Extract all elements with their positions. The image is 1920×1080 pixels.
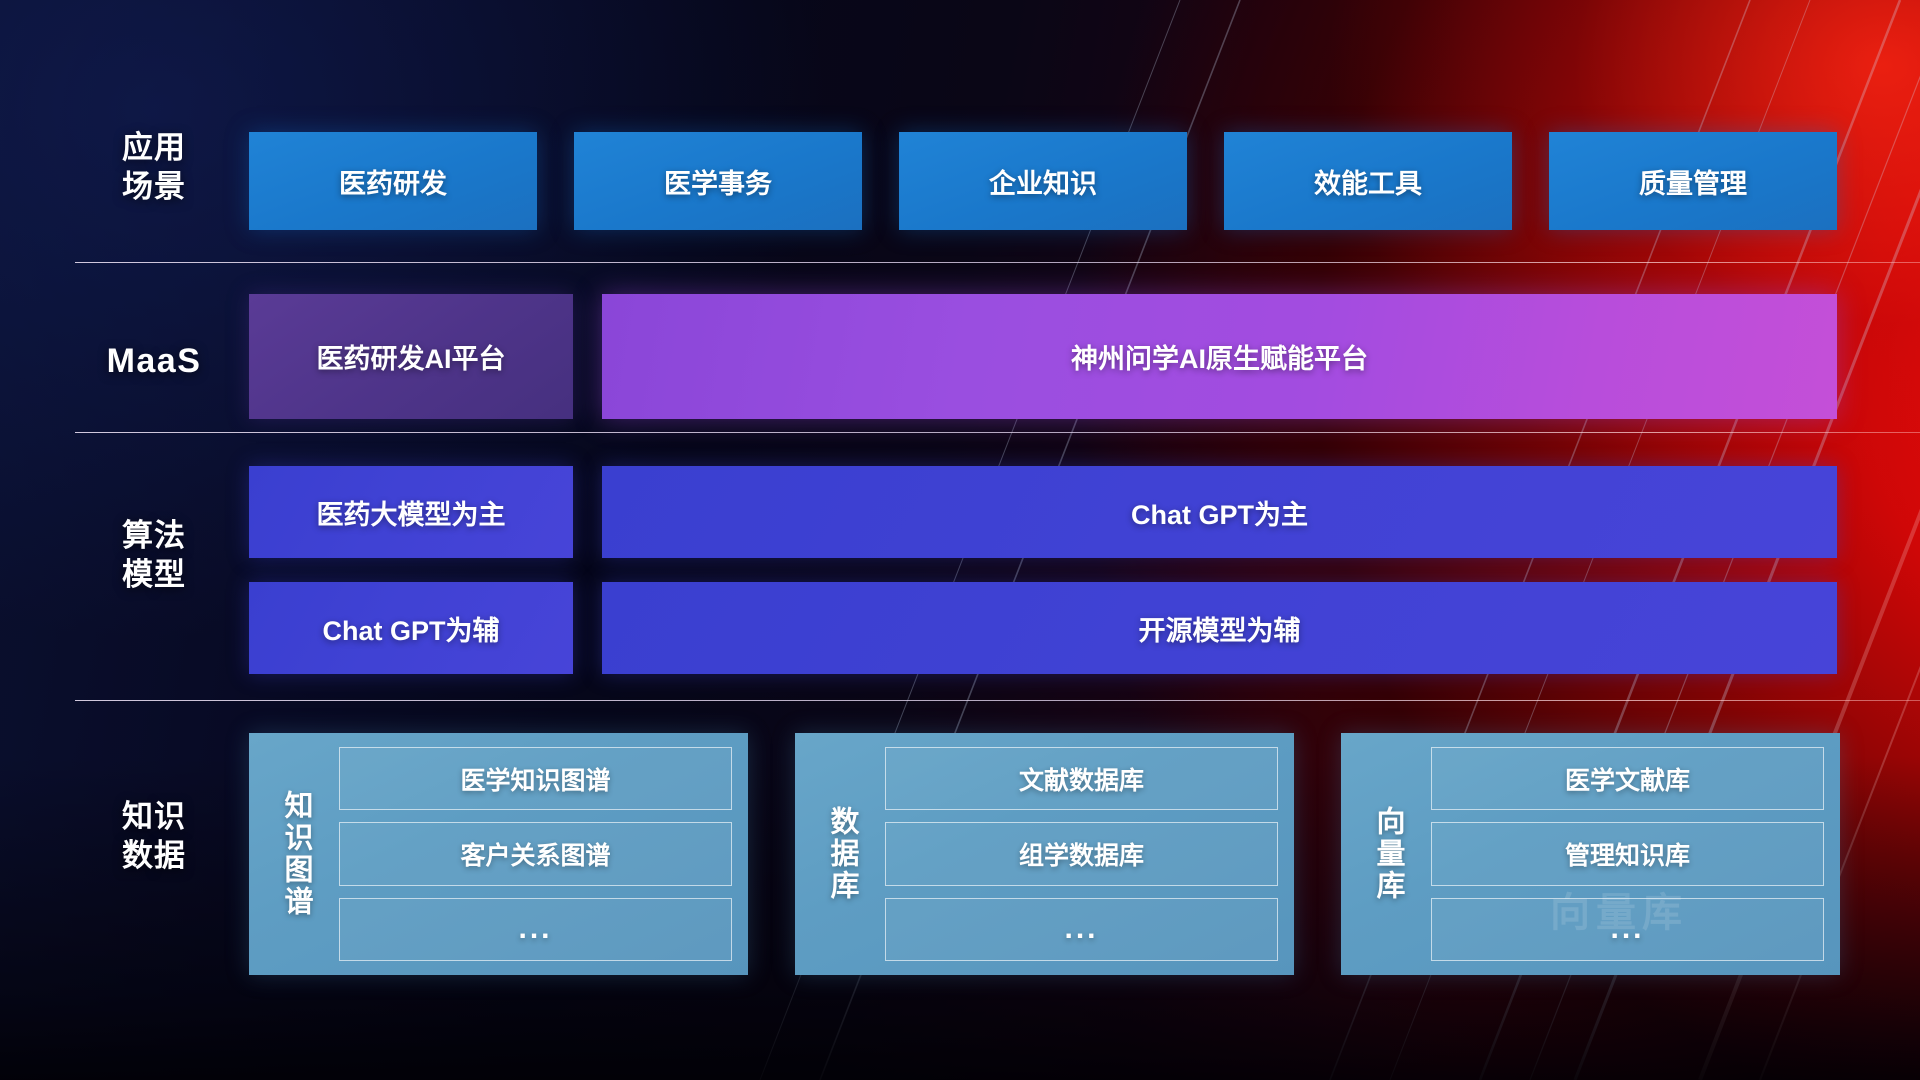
knowledge-item-vector-2[interactable]: ... [1431, 898, 1824, 961]
knowledge-item-database-1[interactable]: 组学数据库 [885, 822, 1278, 885]
model-card-chatgpt-primary-label: Chat GPT为主 [1131, 493, 1308, 532]
knowledge-panel-vector-title: 向量库 [1359, 747, 1415, 961]
model-card-chatgpt-primary[interactable]: Chat GPT为主 [602, 466, 1837, 558]
app-card-0-label: 医药研发 [339, 162, 447, 201]
row-label-application-line2: 场景 [84, 167, 224, 206]
app-card-3[interactable]: 效能工具 [1224, 132, 1512, 230]
knowledge-panel-database[interactable]: 数据库 文献数据库 组学数据库 ... [795, 733, 1294, 975]
maas-card-platform-shenzhou-label: 神州问学AI原生赋能平台 [1071, 337, 1368, 376]
knowledge-panel-graph-items: 医学知识图谱 客户关系图谱 ... [339, 747, 732, 961]
row-label-application: 应用 场景 [84, 128, 224, 206]
knowledge-item-vector-0[interactable]: 医学文献库 [1431, 747, 1824, 810]
knowledge-panel-graph[interactable]: 知识图谱 医学知识图谱 客户关系图谱 ... [249, 733, 748, 975]
app-card-4[interactable]: 质量管理 [1549, 132, 1837, 230]
app-card-0[interactable]: 医药研发 [249, 132, 537, 230]
divider-application-maas [75, 262, 1920, 263]
knowledge-panel-database-title: 数据库 [813, 747, 869, 961]
row-label-application-line1: 应用 [84, 128, 224, 167]
app-card-1-label: 医学事务 [664, 162, 772, 201]
knowledge-item-graph-0[interactable]: 医学知识图谱 [339, 747, 732, 810]
knowledge-item-database-2[interactable]: ... [885, 898, 1278, 961]
row-label-maas-line1: MaaS [84, 340, 224, 383]
app-card-1[interactable]: 医学事务 [574, 132, 862, 230]
architecture-diagram: 应用 场景 医药研发 医学事务 企业知识 效能工具 质量管理 MaaS 医药研发… [0, 0, 1920, 1080]
maas-card-platform-pharma[interactable]: 医药研发AI平台 [249, 294, 573, 419]
knowledge-panel-vector-items: 医学文献库 管理知识库 ... [1431, 747, 1824, 961]
row-label-algorithm-model-line2: 模型 [84, 555, 224, 594]
knowledge-item-vector-1[interactable]: 管理知识库 [1431, 822, 1824, 885]
knowledge-item-graph-2[interactable]: ... [339, 898, 732, 961]
app-card-2-label: 企业知识 [989, 162, 1097, 201]
knowledge-item-database-0[interactable]: 文献数据库 [885, 747, 1278, 810]
divider-model-knowledge [75, 700, 1920, 701]
row-label-knowledge-data-line2: 数据 [84, 836, 224, 875]
row-label-knowledge-data-line1: 知识 [84, 797, 224, 836]
model-card-opensource-secondary[interactable]: 开源模型为辅 [602, 582, 1837, 674]
row-label-algorithm-model: 算法 模型 [84, 516, 224, 594]
app-card-2[interactable]: 企业知识 [899, 132, 1187, 230]
model-card-pharma-primary[interactable]: 医药大模型为主 [249, 466, 573, 558]
maas-card-platform-shenzhou[interactable]: 神州问学AI原生赋能平台 [602, 294, 1837, 419]
app-card-4-label: 质量管理 [1639, 162, 1747, 201]
row-label-knowledge-data: 知识 数据 [84, 797, 224, 875]
knowledge-panel-graph-title: 知识图谱 [267, 747, 323, 961]
model-card-chatgpt-secondary[interactable]: Chat GPT为辅 [249, 582, 573, 674]
knowledge-panel-vector[interactable]: 向量库 医学文献库 管理知识库 ... [1341, 733, 1840, 975]
model-card-opensource-secondary-label: 开源模型为辅 [1139, 609, 1301, 648]
knowledge-panel-database-items: 文献数据库 组学数据库 ... [885, 747, 1278, 961]
model-card-chatgpt-secondary-label: Chat GPT为辅 [322, 609, 499, 648]
divider-maas-model [75, 432, 1920, 433]
knowledge-item-graph-1[interactable]: 客户关系图谱 [339, 822, 732, 885]
model-card-pharma-primary-label: 医药大模型为主 [317, 493, 506, 532]
maas-card-platform-pharma-label: 医药研发AI平台 [317, 337, 506, 376]
row-label-algorithm-model-line1: 算法 [84, 516, 224, 555]
app-card-3-label: 效能工具 [1314, 162, 1422, 201]
row-label-maas: MaaS [84, 340, 224, 383]
